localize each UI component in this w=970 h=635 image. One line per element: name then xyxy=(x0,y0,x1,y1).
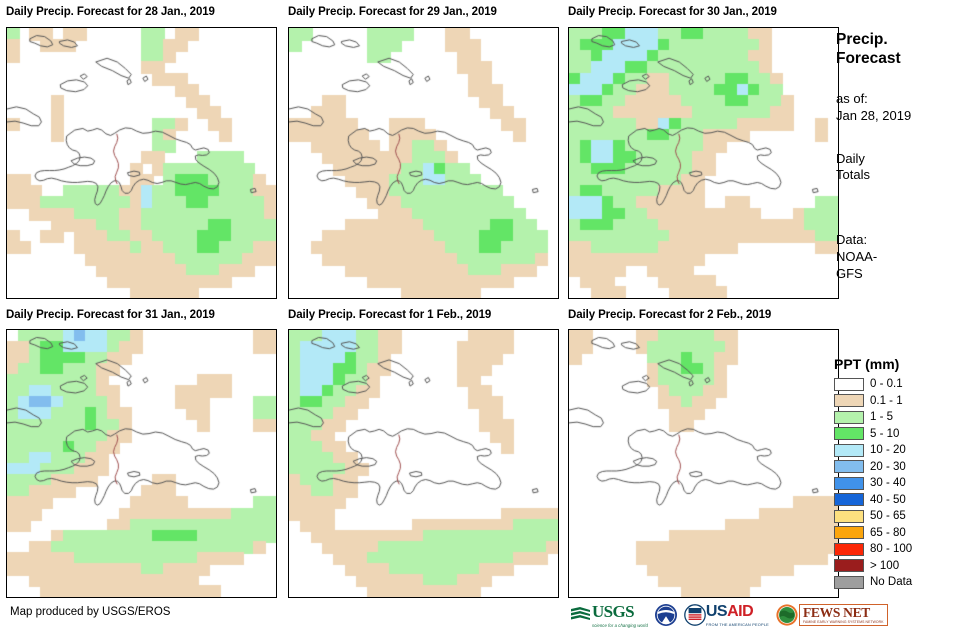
sidebar-title-line2: Forecast xyxy=(836,49,970,68)
panel-title-4: Daily Precip. Forecast for 1 Feb., 2019 xyxy=(288,309,491,321)
legend-swatch xyxy=(834,576,864,589)
fewsnet-wordmark: FEWS NET FAMINE EARLY WARNING SYSTEMS NE… xyxy=(799,604,888,626)
legend-item: 30 - 40 xyxy=(834,475,970,492)
usgs-word: USGS xyxy=(592,602,648,622)
map-panel-2[interactable] xyxy=(568,27,839,299)
usgs-wordmark: USGS science for a changing world xyxy=(592,602,648,628)
sidebar: Precip. Forecast as of: Jan 28, 2019 Dai… xyxy=(836,30,970,283)
legend-label: 40 - 50 xyxy=(870,494,906,506)
legend-swatch xyxy=(834,510,864,523)
sidebar-totals-line1: Daily xyxy=(836,151,970,168)
legend-swatch xyxy=(834,460,864,473)
sidebar-totals: Daily Totals xyxy=(836,151,970,185)
fewsnet-word: FEWS NET xyxy=(803,606,884,620)
map-raster-2 xyxy=(569,28,838,298)
legend-label: 10 - 20 xyxy=(870,444,906,456)
legend-swatch xyxy=(834,526,864,539)
map-panel-0[interactable] xyxy=(6,27,277,299)
map-panel-4[interactable] xyxy=(288,329,559,598)
legend-label: > 100 xyxy=(870,560,899,572)
usaid-wordmark: USAID FROM THE AMERICAN PEOPLE xyxy=(706,603,769,627)
sidebar-totals-line2: Totals xyxy=(836,167,970,184)
map-raster-1 xyxy=(289,28,558,298)
legend-item: 20 - 30 xyxy=(834,459,970,476)
legend-label: No Data xyxy=(870,576,912,588)
legend-label: 30 - 40 xyxy=(870,477,906,489)
legend-label: 0 - 0.1 xyxy=(870,378,903,390)
legend-item: 5 - 10 xyxy=(834,426,970,443)
sidebar-title: Precip. Forecast xyxy=(836,30,970,69)
map-panel-3[interactable] xyxy=(6,329,277,598)
sidebar-asof: as of: Jan 28, 2019 xyxy=(836,91,970,125)
legend-label: 80 - 100 xyxy=(870,543,912,555)
panel-title-0: Daily Precip. Forecast for 28 Jan., 2019 xyxy=(6,6,215,18)
legend-label: 50 - 65 xyxy=(870,510,906,522)
panel-title-3: Daily Precip. Forecast for 31 Jan., 2019 xyxy=(6,309,215,321)
usaid-word: USAID xyxy=(706,603,769,621)
sidebar-data-source: Data: NOAA- GFS xyxy=(836,232,970,283)
legend-swatch xyxy=(834,378,864,391)
legend-item: 0 - 0.1 xyxy=(834,376,970,393)
usaid-seal-icon xyxy=(684,604,706,626)
legend-swatch xyxy=(834,411,864,424)
legend-item: 40 - 50 xyxy=(834,492,970,509)
map-panel-1[interactable] xyxy=(288,27,559,299)
legend-swatch xyxy=(834,394,864,407)
usgs-mark-icon xyxy=(570,606,592,624)
legend-item: 1 - 5 xyxy=(834,409,970,426)
noaa-seal-icon xyxy=(654,603,678,627)
sidebar-data-label: Data: xyxy=(836,232,970,249)
legend-swatch xyxy=(834,543,864,556)
legend-label: 1 - 5 xyxy=(870,411,893,423)
map-panel-5[interactable] xyxy=(568,329,839,598)
sidebar-data-line1: NOAA- xyxy=(836,249,970,266)
panel-title-5: Daily Precip. Forecast for 2 Feb., 2019 xyxy=(568,309,771,321)
usgs-tagline: science for a changing world xyxy=(592,623,648,628)
sidebar-asof-label: as of: xyxy=(836,91,970,108)
legend-swatch xyxy=(834,559,864,572)
legend-label: 5 - 10 xyxy=(870,428,899,440)
legend: PPT (mm) 0 - 0.10.1 - 11 - 55 - 1010 - 2… xyxy=(834,356,970,591)
map-raster-5 xyxy=(569,330,838,597)
fewsnet-tagline: FAMINE EARLY WARNING SYSTEMS NETWORK xyxy=(803,620,884,624)
legend-label: 0.1 - 1 xyxy=(870,395,903,407)
map-credit: Map produced by USGS/EROS xyxy=(10,606,170,618)
usaid-word-accent: AID xyxy=(727,603,753,620)
usgs-logo: USGS science for a changing world xyxy=(570,601,648,629)
legend-swatch xyxy=(834,493,864,506)
legend-title: PPT (mm) xyxy=(834,356,970,372)
map-raster-4 xyxy=(289,330,558,597)
sidebar-asof-date: Jan 28, 2019 xyxy=(836,108,970,125)
legend-item: 10 - 20 xyxy=(834,442,970,459)
fewsnet-globe-icon xyxy=(775,603,799,627)
legend-swatch xyxy=(834,427,864,440)
map-raster-3 xyxy=(7,330,276,597)
legend-item: > 100 xyxy=(834,558,970,575)
legend-item: No Data xyxy=(834,574,970,591)
fewsnet-logo: FEWS NET FAMINE EARLY WARNING SYSTEMS NE… xyxy=(775,601,888,629)
legend-label: 20 - 30 xyxy=(870,461,906,473)
legend-rows: 0 - 0.10.1 - 11 - 55 - 1010 - 2020 - 303… xyxy=(834,376,970,591)
legend-item: 0.1 - 1 xyxy=(834,393,970,410)
logo-strip: USGS science for a changing world USAID … xyxy=(570,600,888,630)
sidebar-data-line2: GFS xyxy=(836,266,970,283)
legend-item: 50 - 65 xyxy=(834,508,970,525)
legend-item: 80 - 100 xyxy=(834,541,970,558)
usaid-tagline: FROM THE AMERICAN PEOPLE xyxy=(706,622,769,627)
legend-label: 65 - 80 xyxy=(870,527,906,539)
legend-swatch xyxy=(834,444,864,457)
panel-title-2: Daily Precip. Forecast for 30 Jan., 2019 xyxy=(568,6,777,18)
sidebar-title-line1: Precip. xyxy=(836,30,970,49)
legend-item: 65 - 80 xyxy=(834,525,970,542)
panel-title-1: Daily Precip. Forecast for 29 Jan., 2019 xyxy=(288,6,497,18)
usaid-logo: USAID FROM THE AMERICAN PEOPLE xyxy=(684,601,769,629)
map-raster-0 xyxy=(7,28,276,298)
legend-swatch xyxy=(834,477,864,490)
noaa-logo xyxy=(654,601,678,629)
